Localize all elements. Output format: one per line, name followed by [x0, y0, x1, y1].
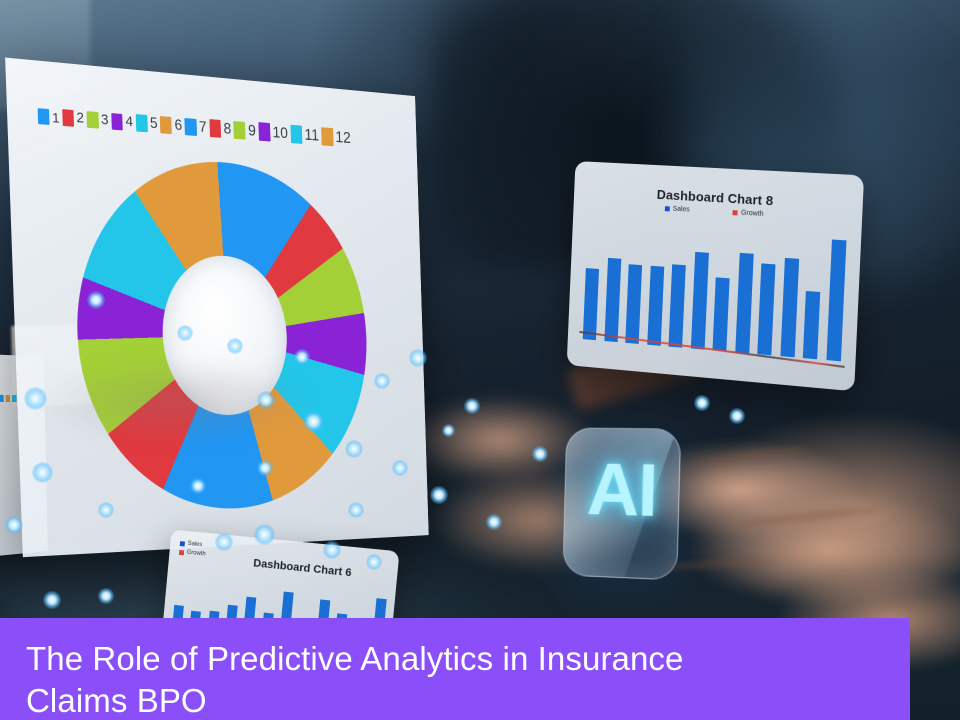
legend-swatch-12: [321, 127, 333, 146]
screenshot-canvas: 123456789101112 Dashboard Chart 8 Sales …: [0, 0, 960, 720]
donut-chart-panel[interactable]: 123456789101112: [5, 58, 429, 558]
legend-label-5: 5: [150, 116, 158, 131]
bar-9: [757, 264, 775, 356]
donut-chart-legend: 123456789101112: [37, 90, 396, 150]
legend-entry-11[interactable]: 11: [290, 125, 319, 145]
title-line-1: The Role of Predictive Analytics in Insu…: [26, 638, 910, 680]
legend-label-8: 8: [223, 121, 231, 137]
legend-label-9: 9: [248, 123, 256, 139]
legend-swatch-3: [86, 111, 98, 128]
legend-label-6: 6: [174, 118, 182, 133]
legend-entry-sales: Sales: [665, 205, 690, 213]
legend-swatch-11: [290, 125, 302, 144]
donut-drop-shadow: [35, 358, 318, 447]
legend-entry-8[interactable]: 8: [209, 119, 232, 138]
legend-swatch-growth: [733, 210, 738, 215]
legend-entry-3[interactable]: 3: [86, 111, 108, 129]
legend-swatch-7: [184, 118, 196, 136]
bar-10: [780, 258, 799, 357]
legend-label-12: 12: [335, 129, 351, 146]
legend-entry-2[interactable]: 2: [62, 109, 84, 127]
bar-6: [691, 252, 709, 349]
legend-swatch-growth-c6: [179, 549, 184, 554]
bar-3: [625, 264, 642, 344]
legend-entry-7[interactable]: 7: [184, 118, 207, 137]
dashboard-chart-6-title: Dashboard Chart 6: [219, 554, 388, 583]
bar-8: [735, 253, 753, 354]
bar-11: [803, 291, 820, 359]
dashboard-chart-8-panel[interactable]: Dashboard Chart 8 Sales Growth: [567, 161, 864, 391]
legend-entry-10[interactable]: 10: [258, 122, 288, 142]
dashboard-chart-8-bars: [583, 222, 847, 361]
legend-label-7: 7: [199, 120, 207, 136]
mini-swatch-cyan: [12, 395, 17, 402]
legend-entry-sales-c6: Sales: [180, 540, 207, 549]
mini-swatch-blue: [0, 395, 4, 402]
legend-swatch-sales-c6: [180, 541, 185, 546]
legend-entry-5[interactable]: 5: [135, 114, 157, 132]
ai-badge[interactable]: AI: [562, 427, 681, 580]
legend-swatch-1: [38, 108, 50, 125]
legend-label-sales-c6: Sales: [187, 541, 202, 548]
legend-entry-growth: Growth: [733, 209, 764, 218]
legend-label-1: 1: [52, 110, 60, 124]
bar-2: [604, 258, 621, 342]
legend-entry-12[interactable]: 12: [321, 127, 351, 147]
legend-label-2: 2: [76, 112, 84, 127]
legend-label-growth-c6: Growth: [187, 550, 206, 558]
dashboard-chart-6-legend: Sales Growth: [179, 540, 207, 557]
legend-label-4: 4: [125, 115, 133, 130]
legend-swatch-4: [111, 113, 123, 130]
bar-12: [826, 239, 846, 361]
legend-entry-6[interactable]: 6: [160, 116, 182, 135]
bar-4: [647, 266, 664, 346]
legend-label-3: 3: [101, 113, 109, 128]
legend-swatch-5: [135, 114, 147, 132]
legend-entry-4[interactable]: 4: [111, 113, 133, 131]
legend-label-sales: Sales: [672, 206, 689, 214]
donut-chart-plot[interactable]: [71, 152, 371, 515]
legend-swatch-9: [234, 121, 246, 139]
legend-entry-9[interactable]: 9: [234, 121, 257, 140]
bar-5: [669, 265, 686, 348]
left-panel-mini-legend: [0, 395, 17, 402]
ai-badge-label: AI: [565, 452, 680, 529]
bar-7: [713, 277, 730, 351]
legend-entry-growth-c6: Growth: [179, 549, 206, 558]
title-banner: The Role of Predictive Analytics in Insu…: [0, 618, 910, 720]
legend-label-10: 10: [272, 125, 288, 142]
legend-swatch-10: [258, 122, 270, 141]
legend-swatch-2: [62, 109, 74, 126]
legend-label-11: 11: [304, 127, 319, 144]
legend-swatch-6: [160, 116, 172, 134]
legend-label-growth: Growth: [741, 210, 764, 218]
bar-1: [583, 268, 599, 340]
legend-entry-1[interactable]: 1: [38, 108, 60, 126]
mini-swatch-orange: [5, 395, 10, 402]
title-line-2: Claims BPO: [26, 680, 910, 720]
legend-swatch-8: [209, 119, 221, 137]
legend-swatch-sales: [665, 206, 670, 211]
